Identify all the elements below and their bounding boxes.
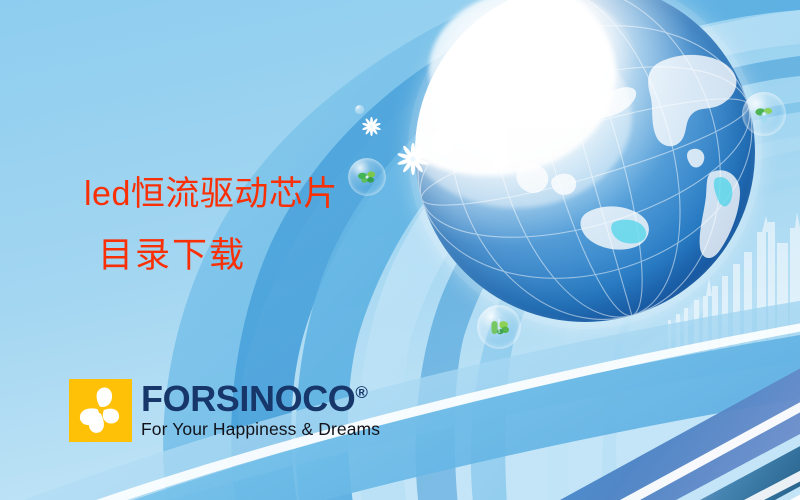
headline-block: led恒流驱动芯片 目录下载 bbox=[84, 163, 414, 287]
bubble-tiny-upper bbox=[355, 105, 364, 114]
bubble-leaf-right bbox=[742, 92, 786, 136]
logo-wordmark-text: FORSINOCO bbox=[141, 378, 355, 419]
headline-line-2: 目录下载 bbox=[84, 225, 414, 287]
green-leaf-icon bbox=[742, 92, 786, 136]
daisy-flower-small-icon bbox=[362, 117, 381, 136]
forsinoco-pinwheel-mark-icon bbox=[69, 379, 132, 442]
logo-wordmark: FORSINOCO® bbox=[141, 380, 380, 418]
bubble-plant-center bbox=[477, 305, 521, 349]
registered-trademark-symbol: ® bbox=[355, 383, 367, 402]
promo-banner: led恒流驱动芯片 目录下载 FORSINOCO® For Your Happi… bbox=[0, 0, 800, 500]
headline-line-1: led恒流驱动芯片 bbox=[84, 163, 414, 225]
pinwheel-petals-icon bbox=[69, 379, 132, 442]
logo-text-block: FORSINOCO® For Your Happiness & Dreams bbox=[141, 379, 380, 439]
forsinoco-logo: FORSINOCO® For Your Happiness & Dreams bbox=[69, 379, 380, 442]
logo-tagline: For Your Happiness & Dreams bbox=[141, 419, 380, 439]
green-sprout-icon bbox=[477, 305, 521, 349]
